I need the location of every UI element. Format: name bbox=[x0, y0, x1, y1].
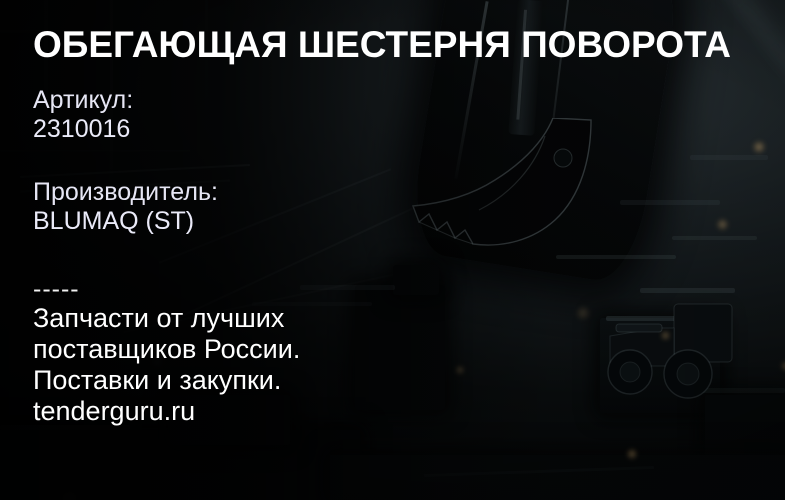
promo-website-url: tenderguru.ru bbox=[33, 396, 300, 427]
promo-line-3: Поставки и закупки. bbox=[33, 365, 300, 396]
manufacturer-label: Производитель: bbox=[33, 178, 218, 206]
article-field: Артикул: 2310016 bbox=[33, 86, 133, 144]
promo-text-block: Запчасти от лучших поставщиков России. П… bbox=[33, 303, 300, 427]
promo-line-2: поставщиков России. bbox=[33, 334, 300, 365]
product-title: ОБЕГАЮЩАЯ ШЕСТЕРНЯ ПОВОРОТА bbox=[33, 26, 731, 65]
article-label: Артикул: bbox=[33, 86, 133, 114]
article-value: 2310016 bbox=[33, 115, 133, 144]
section-divider: ----- bbox=[33, 275, 80, 304]
promo-line-1: Запчасти от лучших bbox=[33, 303, 300, 334]
banner-content: ОБЕГАЮЩАЯ ШЕСТЕРНЯ ПОВОРОТА Артикул: 231… bbox=[33, 0, 785, 500]
manufacturer-value: BLUMAQ (ST) bbox=[33, 207, 218, 236]
product-banner: ОБЕГАЮЩАЯ ШЕСТЕРНЯ ПОВОРОТА Артикул: 231… bbox=[0, 0, 785, 500]
manufacturer-field: Производитель: BLUMAQ (ST) bbox=[33, 178, 218, 236]
